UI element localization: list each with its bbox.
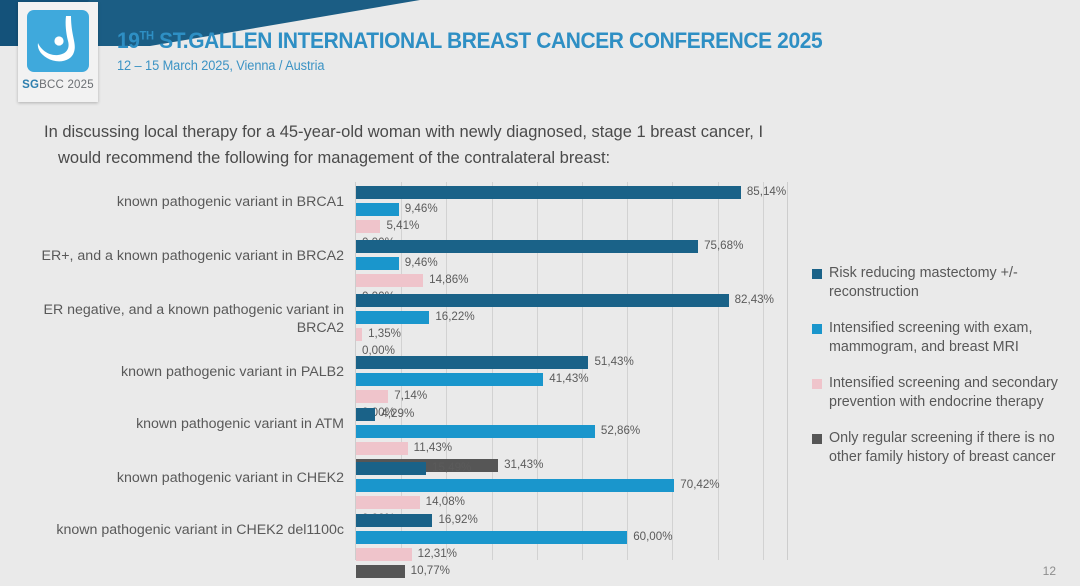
bar-chart: known pathogenic variant in BRCA185,14%9… xyxy=(0,178,800,568)
bar[interactable] xyxy=(356,356,588,369)
bar-value-label: 10,77% xyxy=(411,564,450,577)
legend-swatch-icon xyxy=(812,379,822,389)
bar[interactable] xyxy=(356,390,388,403)
bar-value-label: 12,31% xyxy=(418,547,457,560)
bar-value-label: 82,43% xyxy=(735,293,774,306)
legend-label: Intensified screening and secondary prev… xyxy=(829,374,1078,412)
bar[interactable] xyxy=(356,240,698,253)
bar-value-label: 75,68% xyxy=(704,239,743,252)
legend-item-0[interactable]: Risk reducing mastectomy +/- reconstruct… xyxy=(812,264,1078,302)
bar[interactable] xyxy=(356,294,729,307)
title-block: 19TH ST.GALLEN INTERNATIONAL BREAST CANC… xyxy=(117,28,875,73)
logo-caption-rest: BCC 2025 xyxy=(39,79,94,91)
gridline xyxy=(763,182,764,560)
bar[interactable] xyxy=(356,548,412,561)
legend-label: Risk reducing mastectomy +/- reconstruct… xyxy=(829,264,1078,302)
bar[interactable] xyxy=(356,496,420,509)
bar-value-label: 1,35% xyxy=(368,327,401,340)
gridline xyxy=(627,182,628,560)
logo-caption: SGBCC 2025 xyxy=(22,79,94,91)
bar[interactable] xyxy=(356,186,741,199)
logo-caption-bold: SG xyxy=(22,79,39,91)
category-label: known pathogenic variant in BRCA1 xyxy=(14,194,344,212)
bar[interactable] xyxy=(356,565,405,578)
bar[interactable] xyxy=(356,274,423,287)
bar-value-label: 16,92% xyxy=(438,513,477,526)
legend-item-3[interactable]: Only regular screening if there is no ot… xyxy=(812,429,1078,467)
title-ordinal-suffix: TH xyxy=(140,29,154,43)
bar-value-label: 51,43% xyxy=(594,355,633,368)
gridline xyxy=(492,182,493,560)
bar[interactable] xyxy=(356,373,543,386)
bar[interactable] xyxy=(356,531,627,544)
chart-legend: Risk reducing mastectomy +/- reconstruct… xyxy=(812,264,1078,484)
gridline xyxy=(537,182,538,560)
question-line-2: would recommend the following for manage… xyxy=(44,146,1034,172)
bar-value-label: 85,14% xyxy=(747,185,786,198)
bar-value-label: 4,29% xyxy=(381,407,414,420)
gridline xyxy=(672,182,673,560)
bar-value-label: 14,08% xyxy=(426,495,465,508)
bar-value-label: 7,14% xyxy=(394,389,427,402)
bar-value-label: 11,43% xyxy=(414,441,452,454)
bar[interactable] xyxy=(356,220,380,233)
bar[interactable] xyxy=(356,514,432,527)
bar[interactable] xyxy=(356,328,362,341)
category-label: known pathogenic variant in CHEK2 xyxy=(14,470,344,488)
bar-value-label: 31,43% xyxy=(504,458,543,471)
bar[interactable] xyxy=(356,257,399,270)
breast-profile-logo-icon xyxy=(27,10,89,72)
legend-label: Intensified screening with exam, mammogr… xyxy=(829,319,1078,357)
bar-value-label: 14,86% xyxy=(429,273,468,286)
bar-value-label: 9,46% xyxy=(405,256,438,269)
gridline xyxy=(582,182,583,560)
bar-value-label: 9,46% xyxy=(405,202,438,215)
category-label: known pathogenic variant in CHEK2 del110… xyxy=(14,522,344,540)
bar-value-label: 41,43% xyxy=(549,372,588,385)
title-rest: ST.GALLEN INTERNATIONAL BREAST CANCER CO… xyxy=(154,28,823,53)
bar-value-label: 60,00% xyxy=(633,530,672,543)
page-number: 12 xyxy=(1043,564,1056,578)
conference-subtitle: 12 – 15 March 2025, Vienna / Austria xyxy=(117,58,837,73)
bar[interactable] xyxy=(356,203,399,216)
bar[interactable] xyxy=(356,442,408,455)
category-label: ER+, and a known pathogenic variant in B… xyxy=(14,248,344,266)
bar-value-label: 70,42% xyxy=(680,478,719,491)
bar-value-label: 52,86% xyxy=(601,424,640,437)
legend-swatch-icon xyxy=(812,434,822,444)
bar[interactable] xyxy=(356,479,674,492)
legend-swatch-icon xyxy=(812,269,822,279)
legend-item-1[interactable]: Intensified screening with exam, mammogr… xyxy=(812,319,1078,357)
bar[interactable] xyxy=(356,311,429,324)
bar[interactable] xyxy=(356,408,375,421)
category-label: known pathogenic variant in ATM xyxy=(14,416,344,434)
title-prefix: 19 xyxy=(117,28,140,53)
legend-swatch-icon xyxy=(812,324,822,334)
legend-item-2[interactable]: Intensified screening and secondary prev… xyxy=(812,374,1078,412)
bar[interactable] xyxy=(356,425,595,438)
bar-value-label: 16,22% xyxy=(435,310,474,323)
bar-value-label: 15,49% xyxy=(432,461,471,474)
question-line-1: In discussing local therapy for a 45-yea… xyxy=(44,123,763,141)
question-text: In discussing local therapy for a 45-yea… xyxy=(44,120,1034,171)
slide: SGBCC 2025 19TH ST.GALLEN INTERNATIONAL … xyxy=(0,0,1080,586)
page-title: 19TH ST.GALLEN INTERNATIONAL BREAST CANC… xyxy=(117,28,822,54)
category-label: ER negative, and a known pathogenic vari… xyxy=(14,302,344,338)
conference-logo: SGBCC 2025 xyxy=(18,2,98,102)
bar[interactable] xyxy=(356,462,426,475)
legend-label: Only regular screening if there is no ot… xyxy=(829,429,1078,467)
category-label: known pathogenic variant in PALB2 xyxy=(14,364,344,382)
bar-value-label: 5,41% xyxy=(386,219,419,232)
